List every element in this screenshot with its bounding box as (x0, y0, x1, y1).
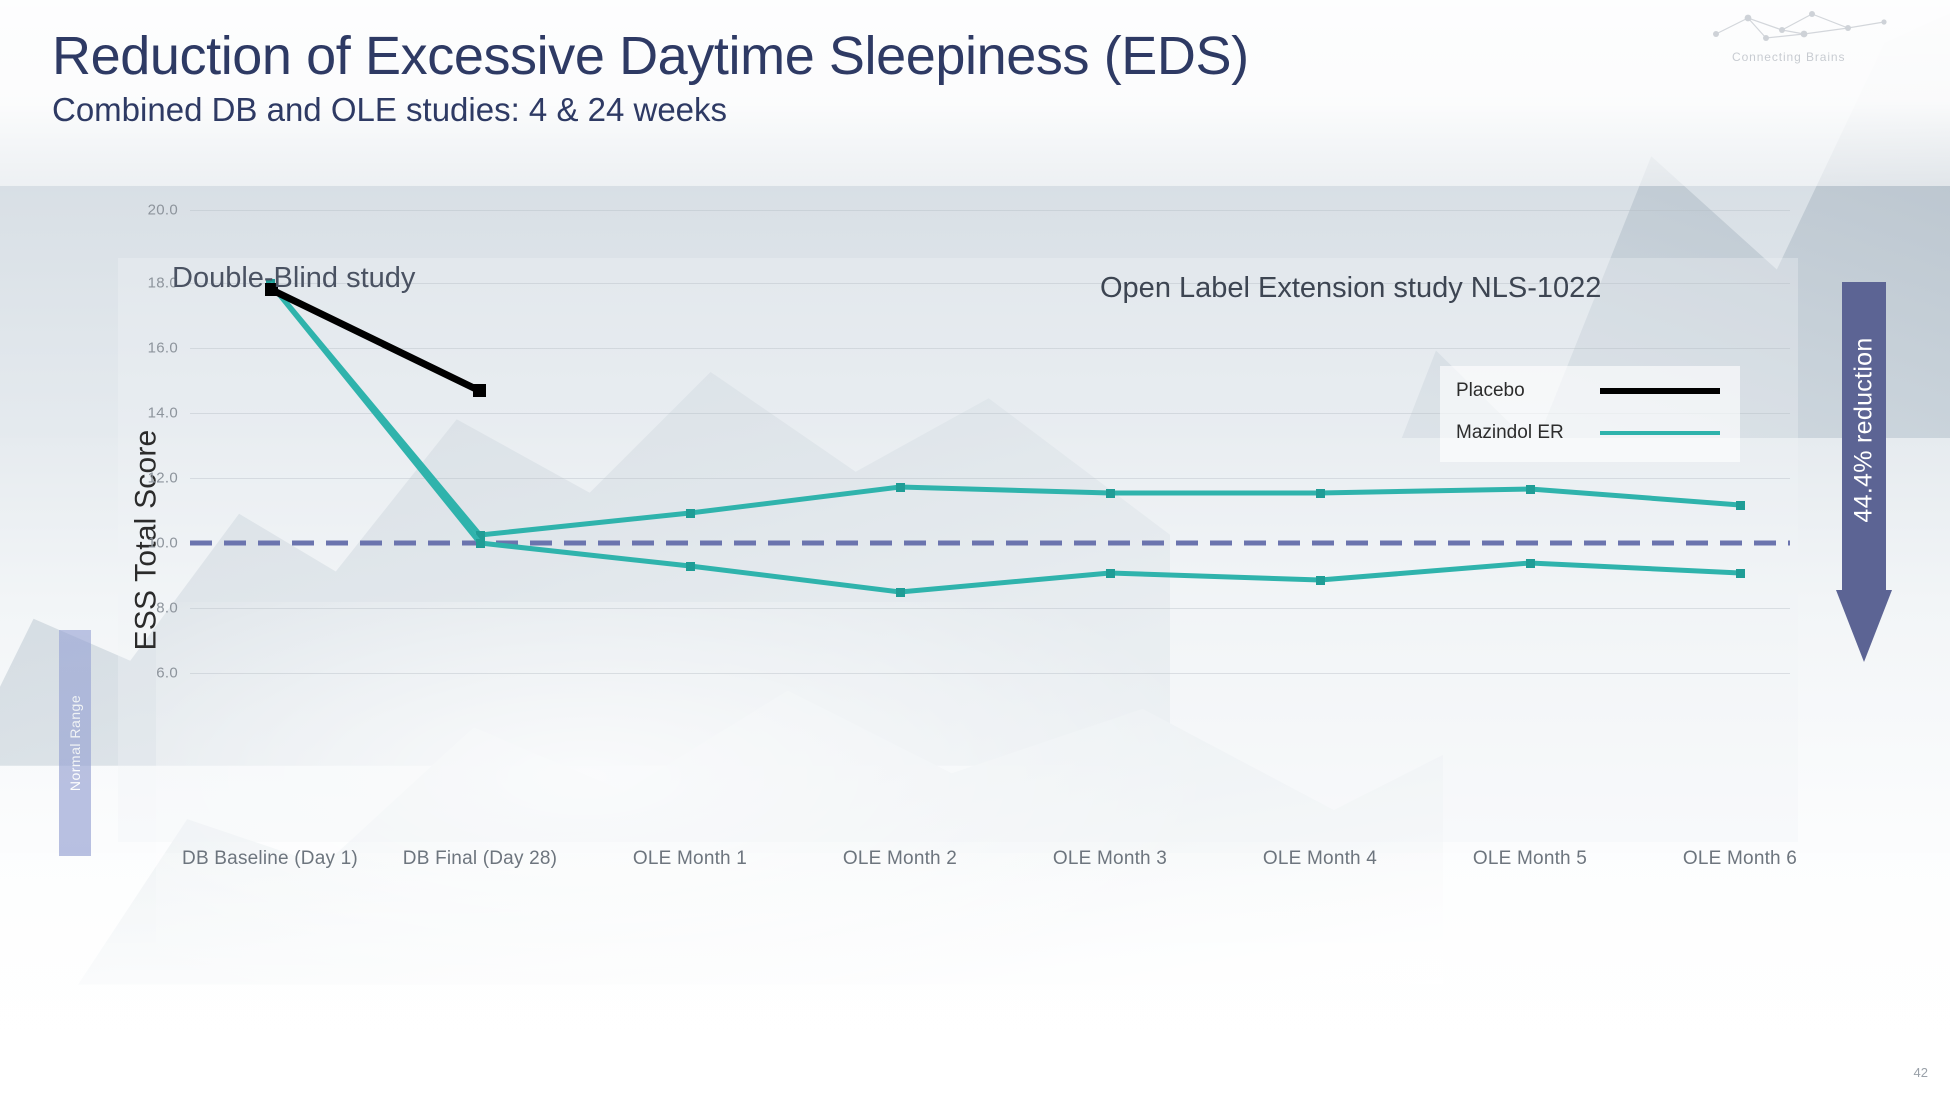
y-tick-label: 12.0 (118, 470, 178, 487)
slide-page-number: 42 (1914, 1065, 1928, 1080)
normal-range-band: Normal Range (59, 630, 91, 856)
x-tick-label: OLE Month 2 (843, 848, 957, 870)
y-tick-label: 18.0 (118, 275, 178, 292)
gridline-8 (190, 608, 1790, 609)
legend-label: Mazindol ER (1456, 422, 1564, 444)
normal-range-label: Normal Range (67, 695, 83, 791)
gridline-20 (190, 210, 1790, 211)
legend-item-mazindol-er: Mazindol ER (1456, 420, 1724, 446)
page-title: Reduction of Excessive Daytime Sleepines… (52, 28, 1249, 84)
legend-label: Placebo (1456, 380, 1525, 402)
legend-swatch-mazindol-er (1600, 431, 1720, 435)
x-tick-label: OLE Month 4 (1263, 848, 1377, 870)
annotation-double-blind-study: Double-Blind study (172, 262, 415, 295)
reduction-arrow-head (1836, 590, 1892, 662)
gridline-12 (190, 478, 1790, 479)
page-subtitle: Combined DB and OLE studies: 4 & 24 week… (52, 92, 727, 128)
chart-container: ESS Total Score 20.0 18.0 16.0 14.0 12.0… (0, 0, 1950, 1094)
x-tick-label: DB Baseline (Day 1) (182, 848, 358, 870)
legend-swatch-placebo (1600, 388, 1720, 394)
x-tick-label: OLE Month 3 (1053, 848, 1167, 870)
plot-area-background (118, 258, 1798, 842)
reduction-arrow: 44.4% reduction (1836, 282, 1892, 662)
y-tick-label: 10.0 (118, 535, 178, 552)
x-tick-label: OLE Month 6 (1683, 848, 1797, 870)
brand-network-icon (1708, 4, 1938, 52)
y-tick-label: 20.0 (118, 202, 178, 219)
x-tick-label: OLE Month 5 (1473, 848, 1587, 870)
x-tick-label: DB Final (Day 28) (403, 848, 557, 870)
annotation-open-label-extension: Open Label Extension study NLS-1022 (1100, 272, 1601, 305)
gridline-16 (190, 348, 1790, 349)
y-tick-label: 16.0 (118, 340, 178, 357)
gridline-6 (190, 673, 1790, 674)
y-tick-label: 8.0 (118, 600, 178, 617)
brand-logo: Connecting Brains (1708, 4, 1938, 68)
x-tick-label: OLE Month 1 (633, 848, 747, 870)
y-tick-label: 6.0 (118, 665, 178, 682)
reduction-arrow-label: 44.4% reduction (1850, 337, 1879, 522)
chart-legend: Placebo Mazindol ER (1440, 366, 1740, 462)
y-tick-label: 14.0 (118, 405, 178, 422)
brand-tagline: Connecting Brains (1732, 50, 1845, 64)
legend-item-placebo: Placebo (1456, 378, 1724, 404)
